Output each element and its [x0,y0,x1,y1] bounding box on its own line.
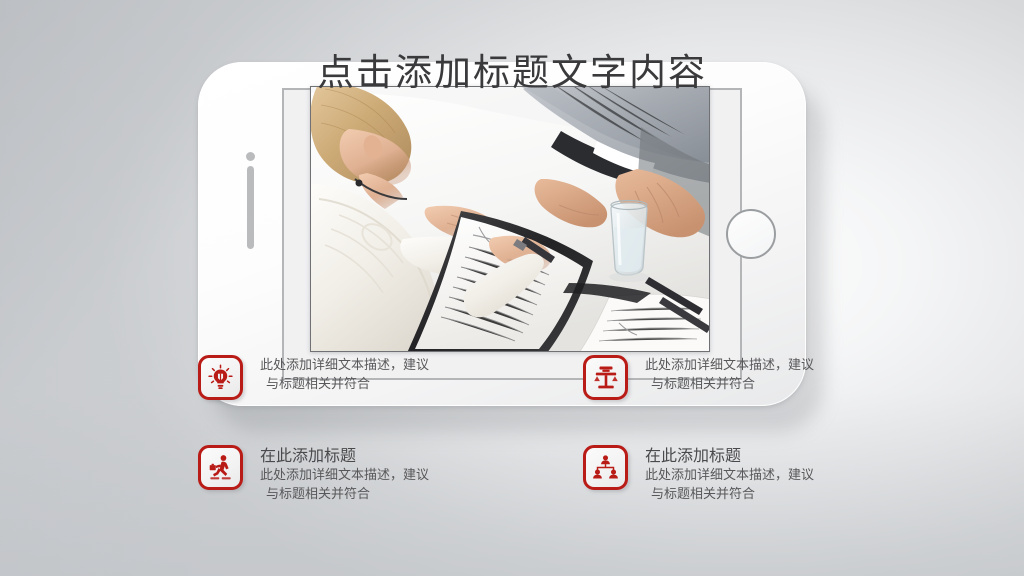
running-businessman-glyph [207,454,234,481]
feature-item-running-businessman[interactable]: 在此添加标题 此处添加详细文本描述，建议 与标题相关并符合 [198,445,429,504]
feature-item-balance-scale[interactable]: 在此添加标题 此处添加详细文本描述，建议 与标题相关并符合 [583,355,814,400]
feature-body-line1: 此处添加详细文本描述，建议 [645,468,814,483]
feature-body-line2: 与标题相关并符合 [645,375,814,394]
feature-body-line1: 此处添加详细文本描述，建议 [260,358,429,373]
feature-body-line2: 与标题相关并符合 [260,485,429,504]
feature-body-line2: 与标题相关并符合 [645,485,814,504]
feature-title: 在此添加标题 [260,446,429,465]
running-businessman-icon[interactable] [198,445,243,490]
feature-body: 此处添加详细文本描述，建议 与标题相关并符合 [260,356,429,394]
feature-body-line1: 此处添加详细文本描述，建议 [645,358,814,373]
feature-text: 在此添加标题 此处添加详细文本描述，建议 与标题相关并符合 [260,355,429,394]
feature-item-org-chart[interactable]: 在此添加标题 此处添加详细文本描述，建议 与标题相关并符合 [583,445,814,504]
balance-scale-glyph [593,364,619,391]
balance-scale-icon[interactable] [583,355,628,400]
org-chart-icon[interactable] [583,445,628,490]
page-title: 点击添加标题文字内容 [0,42,1024,96]
feature-title: 在此添加标题 [645,446,814,465]
lightbulb-glyph [207,364,234,391]
speaker-grille-icon [247,166,254,249]
feature-body-line1: 此处添加详细文本描述，建议 [260,468,429,483]
lightbulb-icon[interactable] [198,355,243,400]
feature-body: 此处添加详细文本描述，建议 与标题相关并符合 [645,466,814,504]
feature-text: 在此添加标题 此处添加详细文本描述，建议 与标题相关并符合 [645,445,814,504]
photo-illustration [311,87,709,351]
front-camera-icon [246,152,255,161]
feature-text: 在此添加标题 此处添加详细文本描述，建议 与标题相关并符合 [260,445,429,504]
feature-item-lightbulb[interactable]: 在此添加标题 此处添加详细文本描述，建议 与标题相关并符合 [198,355,429,400]
feature-body: 此处添加详细文本描述，建议 与标题相关并符合 [645,356,814,394]
business-meeting-photo [310,86,710,352]
org-chart-glyph [592,454,619,481]
feature-body-line2: 与标题相关并符合 [260,375,429,394]
feature-body: 此处添加详细文本描述，建议 与标题相关并符合 [260,466,429,504]
home-button[interactable] [726,209,776,259]
feature-text: 在此添加标题 此处添加详细文本描述，建议 与标题相关并符合 [645,355,814,394]
